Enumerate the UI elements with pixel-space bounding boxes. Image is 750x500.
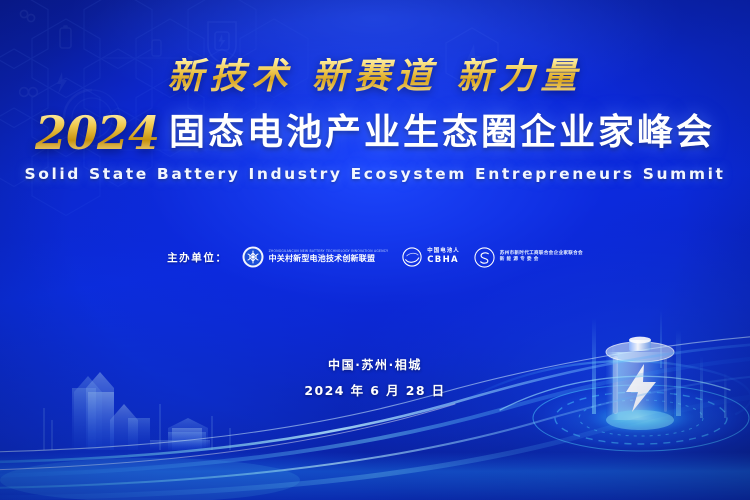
poster-tagline: 新技术 新赛道 新力量 bbox=[0, 58, 750, 94]
organizer-1-name: 中关村新型电池技术创新联盟 bbox=[269, 254, 389, 264]
event-year: 2024 bbox=[35, 110, 159, 156]
organizer-2-script: 中国电池人 bbox=[427, 248, 459, 255]
venue-date: 2024 年 6 月 28 日 bbox=[0, 380, 750, 399]
title-row: 2024 固态电池产业生态圈企业家峰会 bbox=[0, 110, 750, 156]
s-circle-icon bbox=[474, 247, 495, 268]
snowflake-emblem-icon bbox=[242, 246, 264, 268]
organizer-3: 苏州市新时代工商联合会企业家联合会 新 能 源 专 委 会 bbox=[474, 247, 583, 268]
swoosh-circle-icon bbox=[402, 247, 422, 267]
organizer-3-line2: 新 能 源 专 委 会 bbox=[500, 257, 583, 263]
venue-block: 中国·苏州·相城 2024 年 6 月 28 日 bbox=[0, 356, 750, 399]
headline-block: 新技术 新赛道 新力量 2024 固态电池产业生态圈企业家峰会 Solid St… bbox=[0, 58, 750, 183]
venue-location: 中国·苏州·相城 bbox=[0, 356, 750, 373]
organizer-2-abbr: CBHA bbox=[427, 255, 459, 266]
organizer-1-english: ZHONGGUANCUN NEW BATTERY TECHNOLOGY INNO… bbox=[269, 250, 389, 254]
organizers-row: 主办单位： ZHONGGUANCUN NEW BATTERY TECHNOLOG… bbox=[0, 246, 750, 268]
event-poster: 新技术 新赛道 新力量 2024 固态电池产业生态圈企业家峰会 Solid St… bbox=[0, 0, 750, 500]
page-title: 固态电池产业生态圈企业家峰会 bbox=[169, 115, 715, 151]
organizer-2: 中国电池人 CBHA bbox=[402, 247, 459, 267]
organizer-1: ZHONGGUANCUN NEW BATTERY TECHNOLOGY INNO… bbox=[242, 246, 389, 268]
english-subtitle: Solid State Battery Industry Ecosystem E… bbox=[0, 165, 750, 183]
organizers-label: 主办单位： bbox=[167, 250, 228, 265]
